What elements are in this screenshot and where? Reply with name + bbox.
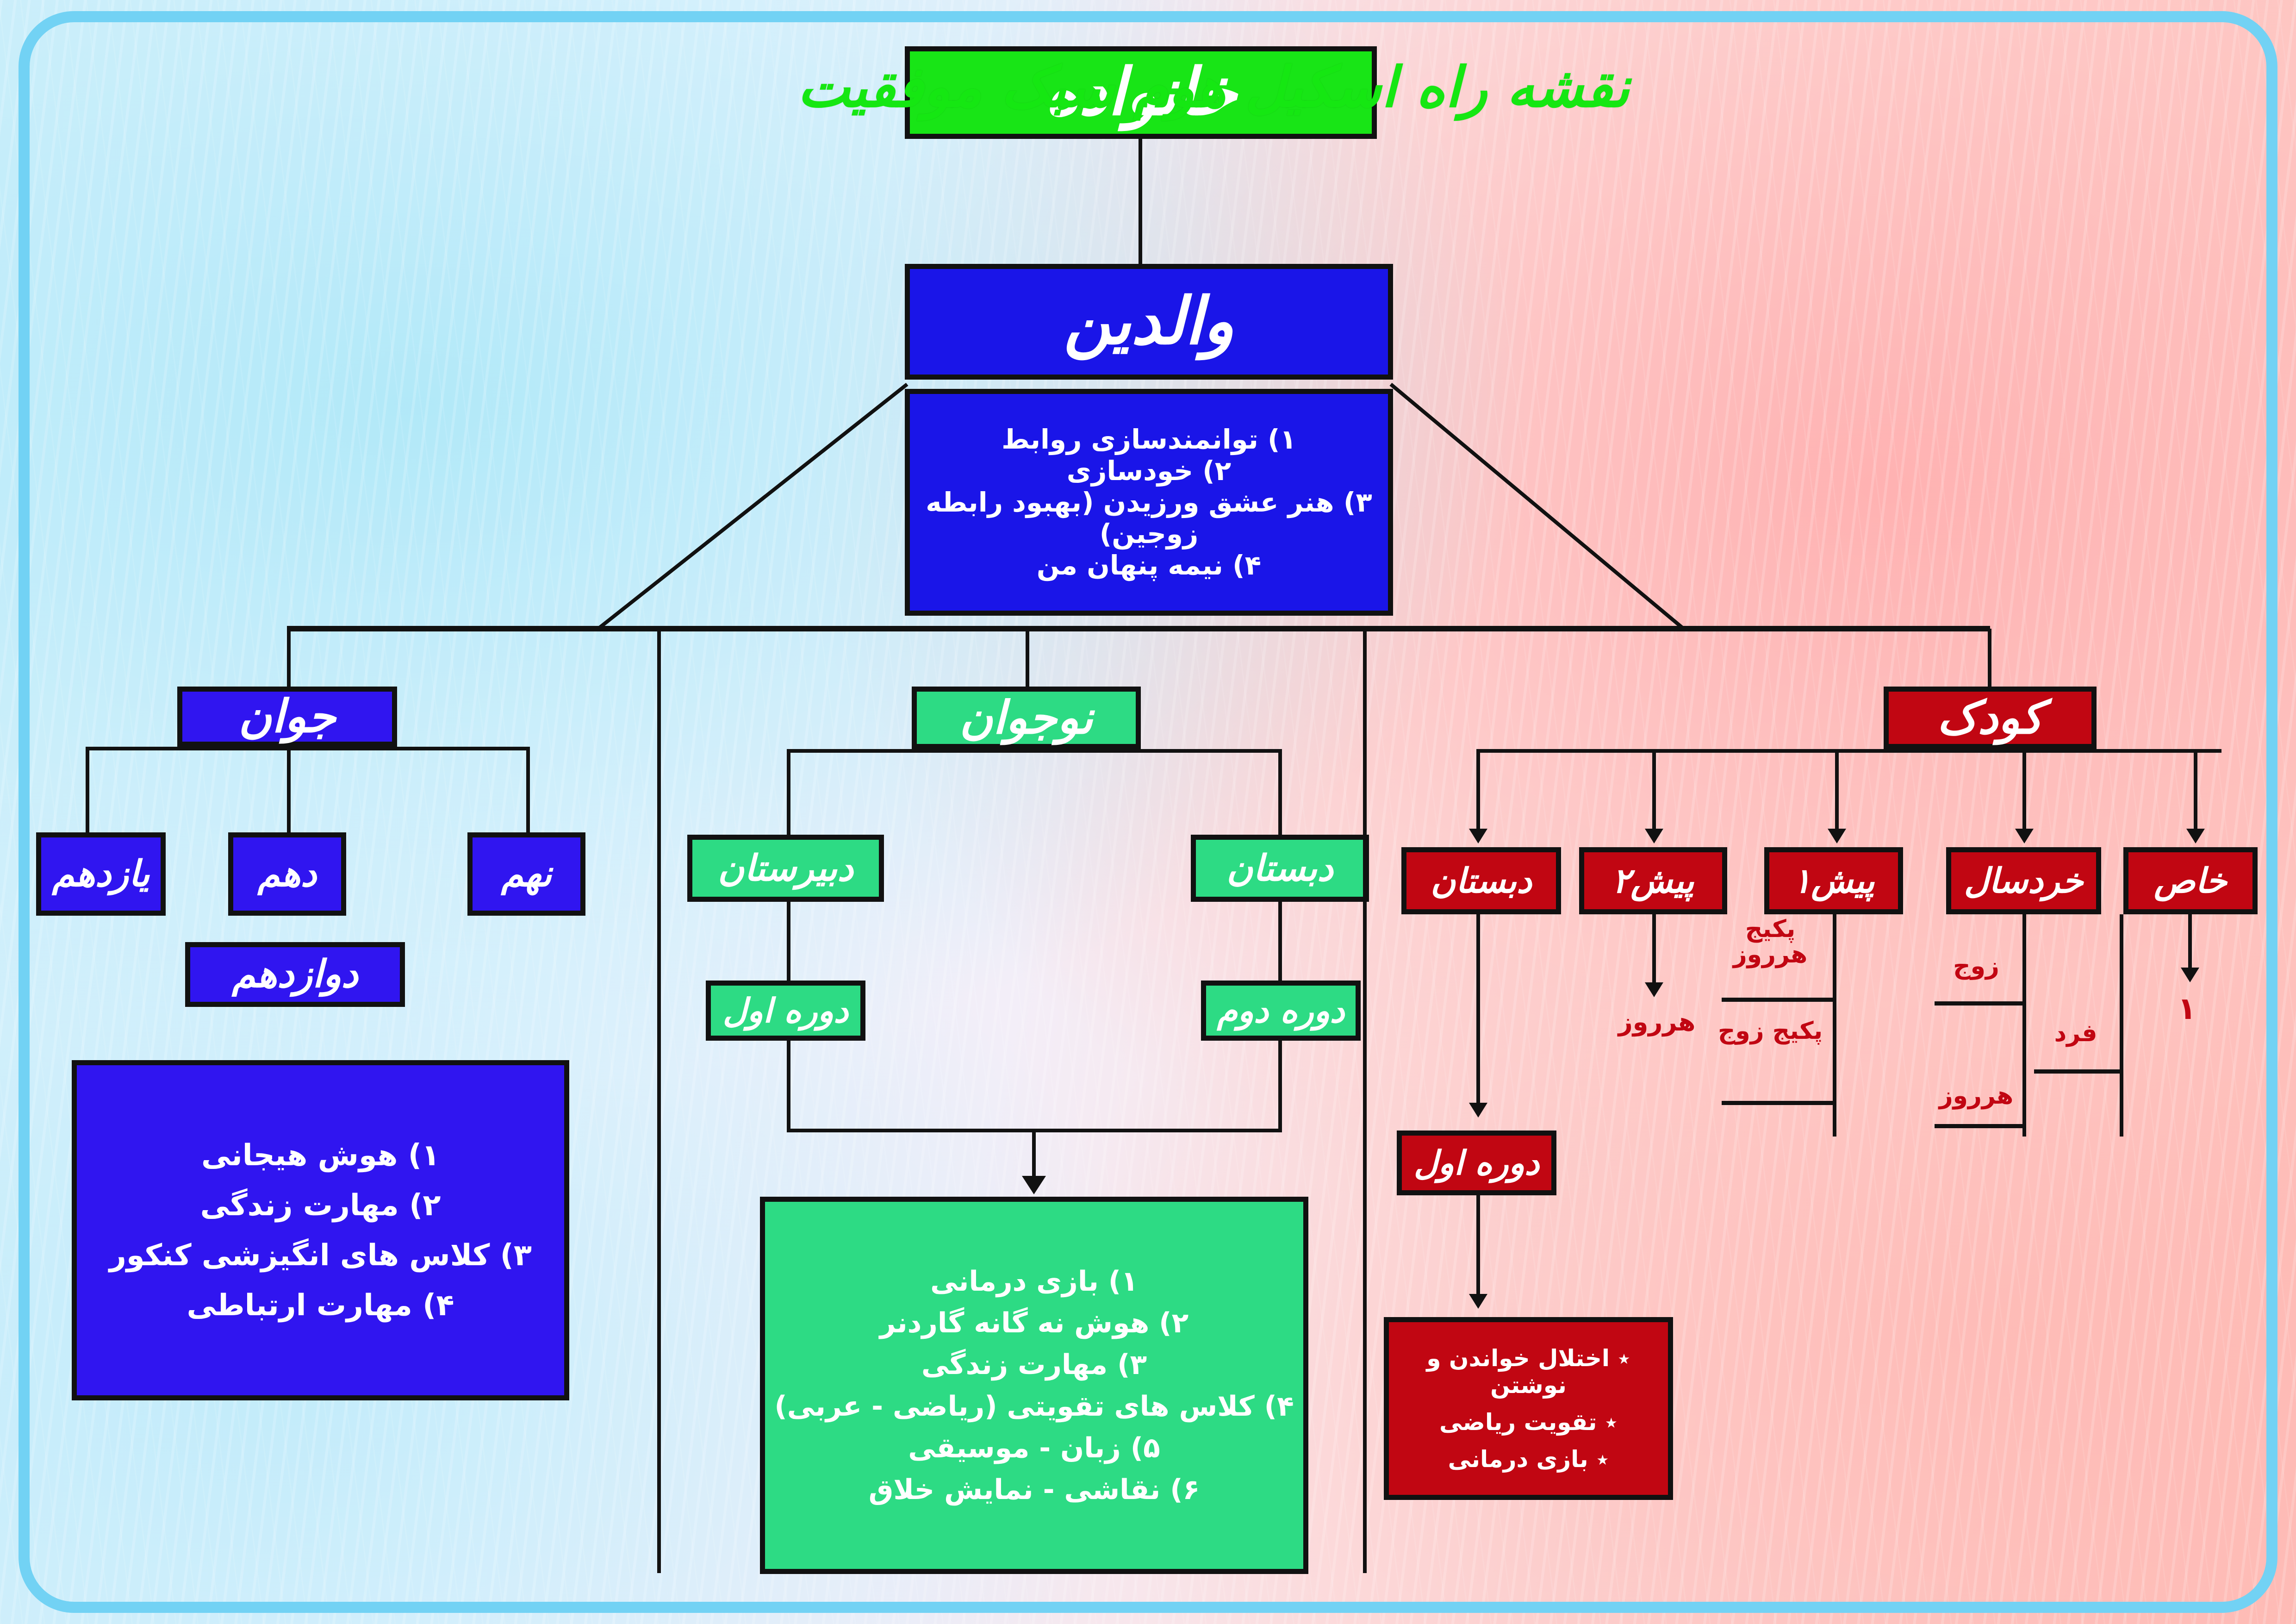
node-parents[interactable]: والدین — [905, 264, 1393, 380]
node-grade-10[interactable]: دهم — [228, 832, 346, 916]
node-stage-pish1[interactable]: پیش۱ — [1764, 847, 1903, 914]
teen-item: ۲) هوش نه گانه گاردنر — [765, 1307, 1303, 1339]
edge-bus-to-youth — [287, 629, 291, 687]
arrowhead-khas — [2186, 829, 2205, 843]
node-primary-school[interactable]: دبستان — [1191, 835, 1369, 902]
edge-youth-g10 — [287, 747, 291, 832]
node-child-cycle-one[interactable]: دوره اول — [1397, 1131, 1556, 1195]
arrowhead-dabestan — [1469, 829, 1487, 843]
main-distribution-bus — [287, 626, 1990, 631]
label-khas-count: ۱ — [2178, 991, 2196, 1026]
node-stage-khas[interactable]: خاص — [2123, 847, 2258, 914]
label-pish2-note: هرروز — [1601, 1009, 1712, 1036]
child-detail-box: ٭ اختلال خواندن و نوشتن ٭ تقویت ریاضی ٭ … — [1384, 1317, 1673, 1500]
arrowhead-teen-list — [1022, 1176, 1046, 1194]
parents-item: ۲) خودسازی — [910, 455, 1388, 487]
label-khordsal-note-c: فرد — [2032, 1021, 2120, 1046]
node-teen[interactable]: نوجوان — [912, 687, 1141, 749]
teen-item: ۶) نقاشی - نمایش خلاق — [765, 1474, 1303, 1506]
tick-pish1-b — [1722, 1101, 1833, 1105]
tick-pish1-a — [1722, 998, 1833, 1002]
edge-youth-g11 — [86, 747, 89, 832]
edge-child-pish2 — [1652, 749, 1656, 837]
edge-highschool-to-cycle1 — [787, 902, 790, 981]
youth-item: ۳) کلاس های انگیزشی کنکور — [77, 1238, 564, 1273]
parents-item: ۱) توانمندسازی روابط — [910, 424, 1388, 455]
edge-child-pish1 — [1835, 749, 1839, 837]
youth-fan-bus — [86, 747, 530, 750]
youth-item: ۲) مهارت زندگی — [77, 1188, 564, 1223]
node-stage-khordsal[interactable]: خردسال — [1946, 847, 2101, 914]
label-khordsal-note-b: هرروز — [1930, 1083, 2022, 1109]
poster-canvas: نقشه راه اسکیل هوم سبک موفقیت خانواده وا… — [0, 0, 2296, 1624]
edge-child-khordsal — [2022, 749, 2026, 837]
edge-pish2-note — [1652, 914, 1656, 991]
youth-item: ۴) مهارت ارتباطی — [77, 1288, 564, 1323]
child-item: ٭ بازی درمانی — [1389, 1446, 1668, 1473]
label-pish1-note-a: پکیج هرروز — [1712, 917, 1828, 967]
edge-pish1-notes — [1833, 914, 1836, 1137]
teen-item: ۵) زبان - موسیقی — [765, 1432, 1303, 1464]
teen-item: ۳) مهارت زندگی — [765, 1349, 1303, 1381]
node-cycle-one[interactable]: دوره اول — [706, 981, 865, 1041]
edge-child-dabestan — [1476, 749, 1480, 837]
arrowhead-dabestan-cycle1 — [1469, 1103, 1487, 1118]
edge-bus-to-child — [1988, 629, 1991, 687]
label-khordsal-note-a: زوج — [1932, 954, 2020, 979]
teen-item: ۴) کلاس های تقویتی (ریاضی - عربی) — [765, 1390, 1303, 1423]
edge-family-to-parents — [1139, 139, 1142, 264]
page-title: نقشه راه اسکیل هوم سبک موفقیت — [797, 56, 1630, 120]
arrowhead-khas-note — [2181, 968, 2199, 982]
edge-cycle2-down — [1278, 1041, 1282, 1131]
node-grade-11[interactable]: یازدهم — [36, 832, 166, 916]
edge-khas-note — [2188, 914, 2192, 974]
node-stage-dabestan[interactable]: دبستان — [1401, 847, 1561, 914]
teen-detail-box: ۱) بازی درمانی ۲) هوش نه گانه گاردنر ۳) … — [760, 1197, 1308, 1574]
edge-khordsal-notes — [2022, 914, 2026, 1137]
edge-cycle1-to-red-list — [1476, 1195, 1480, 1302]
edge-teen-highschool — [787, 749, 790, 835]
node-youth[interactable]: جوان — [177, 687, 397, 747]
arrowhead-pish2 — [1645, 829, 1663, 843]
node-grade-12[interactable]: دوازدهم — [185, 942, 405, 1007]
tick-khordsal-c — [2034, 1069, 2122, 1074]
arrowhead-pish2-note — [1645, 982, 1663, 997]
tick-khordsal-b — [1935, 1124, 2022, 1128]
node-highschool[interactable]: دبیرستان — [687, 835, 884, 902]
edge-khordsal-odd — [2120, 914, 2123, 1137]
column-divider-right — [1363, 629, 1367, 1573]
teen-fan-bus — [787, 749, 1282, 753]
tick-khordsal-a — [1935, 1001, 2022, 1006]
arrowhead-pish1 — [1828, 829, 1846, 843]
column-divider-left — [657, 629, 661, 1573]
child-item: ٭ تقویت ریاضی — [1389, 1409, 1668, 1436]
youth-item: ۱) هوش هیجانی — [77, 1138, 564, 1173]
edge-youth-g9 — [526, 747, 530, 832]
arrowhead-red-list — [1469, 1294, 1487, 1309]
node-child[interactable]: کودک — [1884, 687, 2097, 749]
edge-teen-primary — [1278, 749, 1282, 835]
edge-cycle1-down — [787, 1041, 790, 1131]
edge-bus-to-teen — [1026, 629, 1029, 687]
teen-item: ۱) بازی درمانی — [765, 1265, 1303, 1298]
diagram-canvas: نقشه راه اسکیل هوم سبک موفقیت خانواده وا… — [0, 0, 2296, 1624]
parents-item: ۳) هنر عشق ورزیدن (بهبود رابطه زوجین) — [910, 487, 1388, 550]
parents-detail-box: ۱) توانمندسازی روابط ۲) خودسازی ۳) هنر ع… — [905, 389, 1393, 616]
parents-item: ۴) نیمه پنهان من — [910, 550, 1388, 581]
node-grade-9[interactable]: نهم — [467, 832, 585, 916]
node-stage-pish2[interactable]: پیش۲ — [1579, 847, 1727, 914]
child-fan-bus — [1476, 749, 2221, 753]
child-item: ٭ اختلال خواندن و نوشتن — [1389, 1345, 1668, 1399]
edge-primary-to-cycle2 — [1278, 902, 1282, 981]
label-pish1-note-b: پکیج زوج — [1712, 1018, 1828, 1044]
edge-teen-merge-to-list — [1032, 1129, 1036, 1181]
arrowhead-khordsal — [2015, 829, 2034, 843]
youth-detail-box: ۱) هوش هیجانی ۲) مهارت زندگی ۳) کلاس های… — [72, 1060, 569, 1400]
node-cycle-two[interactable]: دوره دوم — [1201, 981, 1361, 1041]
edge-child-khas — [2194, 749, 2197, 837]
edge-dabestan-to-cycle1 — [1476, 914, 1480, 1111]
